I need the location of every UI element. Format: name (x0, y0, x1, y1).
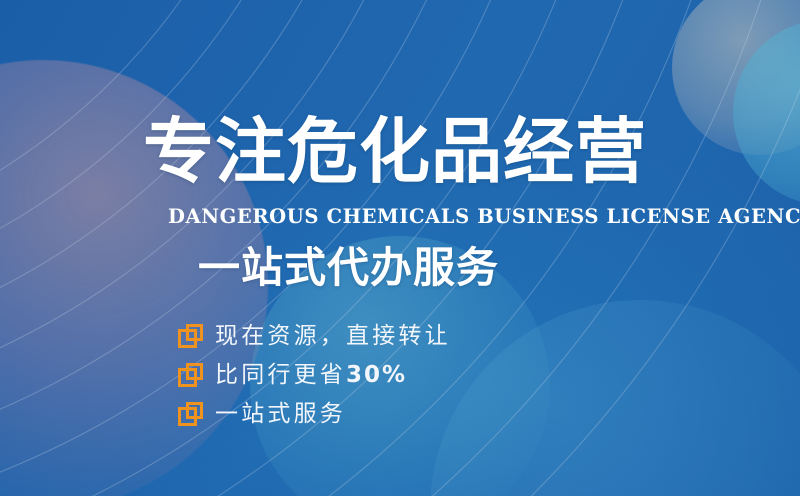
list-item-label: 一站式服务 (215, 399, 346, 429)
banner-content: 专注危化品经营 DANGEROUS CHEMICALS BUSINESS LIC… (0, 0, 800, 496)
overlapping-squares-icon (178, 324, 204, 348)
overlapping-squares-icon (178, 402, 204, 426)
sub-headline: 一站式代办服务 (198, 243, 499, 293)
list-item-label-text: 比同行更省 (215, 362, 346, 388)
english-subtitle: DANGEROUS CHEMICALS BUSINESS LICENSE AGE… (168, 206, 800, 228)
headline: 专注危化品经营 (143, 114, 647, 190)
discount-value: 30% (346, 362, 407, 388)
list-item: 现在资源，直接转让 (178, 316, 451, 355)
list-item-label: 现在资源，直接转让 (215, 321, 451, 351)
list-item: 比同行更省30% (178, 355, 451, 394)
feature-list: 现在资源，直接转让 比同行更省30% 一站式服务 (178, 316, 451, 433)
overlapping-squares-icon (178, 363, 204, 387)
promo-banner: 专注危化品经营 DANGEROUS CHEMICALS BUSINESS LIC… (0, 0, 800, 496)
list-item: 一站式服务 (178, 394, 451, 433)
list-item-label: 比同行更省30% (215, 360, 407, 390)
